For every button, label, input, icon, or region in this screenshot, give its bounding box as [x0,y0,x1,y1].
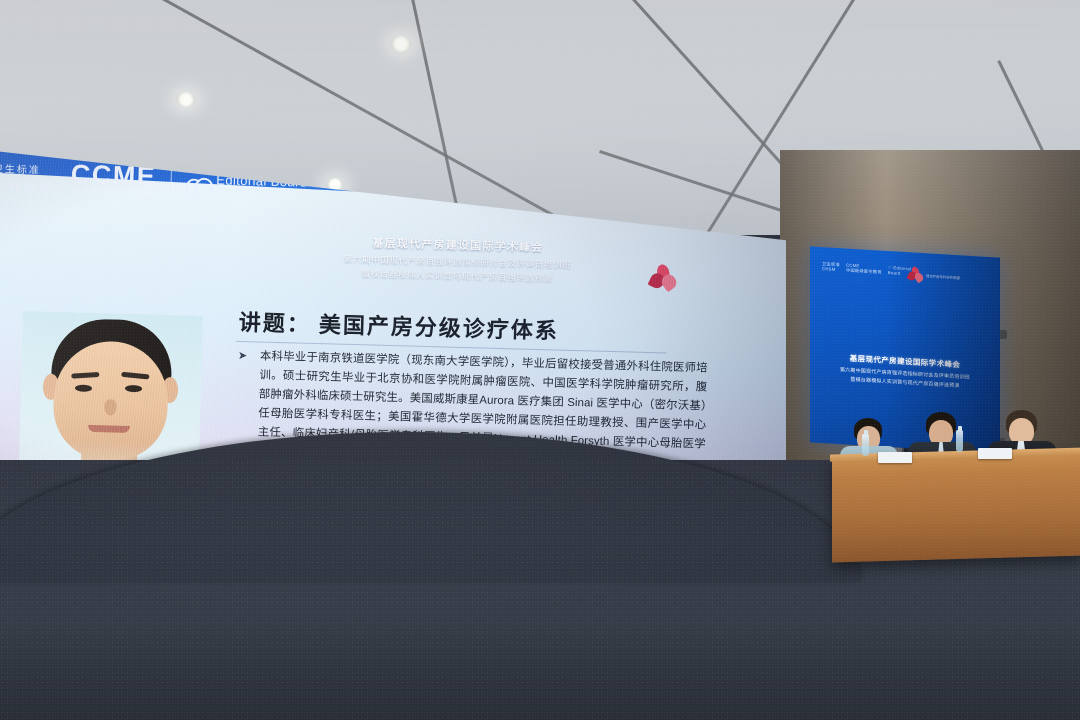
logo-chsm: 卫生标准 CHSM [0,166,57,196]
nameplate [878,452,912,463]
nameplate [978,448,1012,459]
logo-editorial-board: Editorial Board Chinese Medical Journal … [185,173,308,203]
slide-logo-row: 卫生标准 CHSM CCME 中国继续医学教育 Editorial Board [0,158,308,202]
ceiling-downlight [390,36,412,52]
water-bottle [862,434,869,456]
logo-ccme-cn: 中国继续医学教育 [70,187,156,199]
water-bottle [956,430,963,452]
logo-ccme: CCME 中国继续医学教育 [70,160,156,198]
panel-table [832,451,1080,562]
editorial-board-cn: 现代产房专科协作联盟 [216,193,307,203]
logo-divider [170,164,172,198]
conference-photo: 卫生标准CHSM CCME中国继续医学教育 ♡ EditorialBoard 现… [0,0,1080,720]
alliance-emblem-caption: 现代产房专科协作联盟 Alliance of Modern Delivery R… [680,277,786,287]
ceiling-downlight [176,92,196,107]
conference-title: 基层现代产房建设国际学术峰会 第六期中国现代产房百强评选指标研讨会及评审员培训班… [282,232,633,286]
heart-ribbon-icon [185,175,212,198]
alliance-emblem: 现代产房专科协作联盟 Alliance of Modern Delivery R… [650,264,786,298]
logo-chsm-en: CHSM [0,176,57,196]
bloom-emblem-icon [650,264,677,295]
logo-chsm-cn: 卫生标准 [0,166,57,178]
talk-title: 讲题： 美国产房分级诊疗体系 [238,305,559,346]
